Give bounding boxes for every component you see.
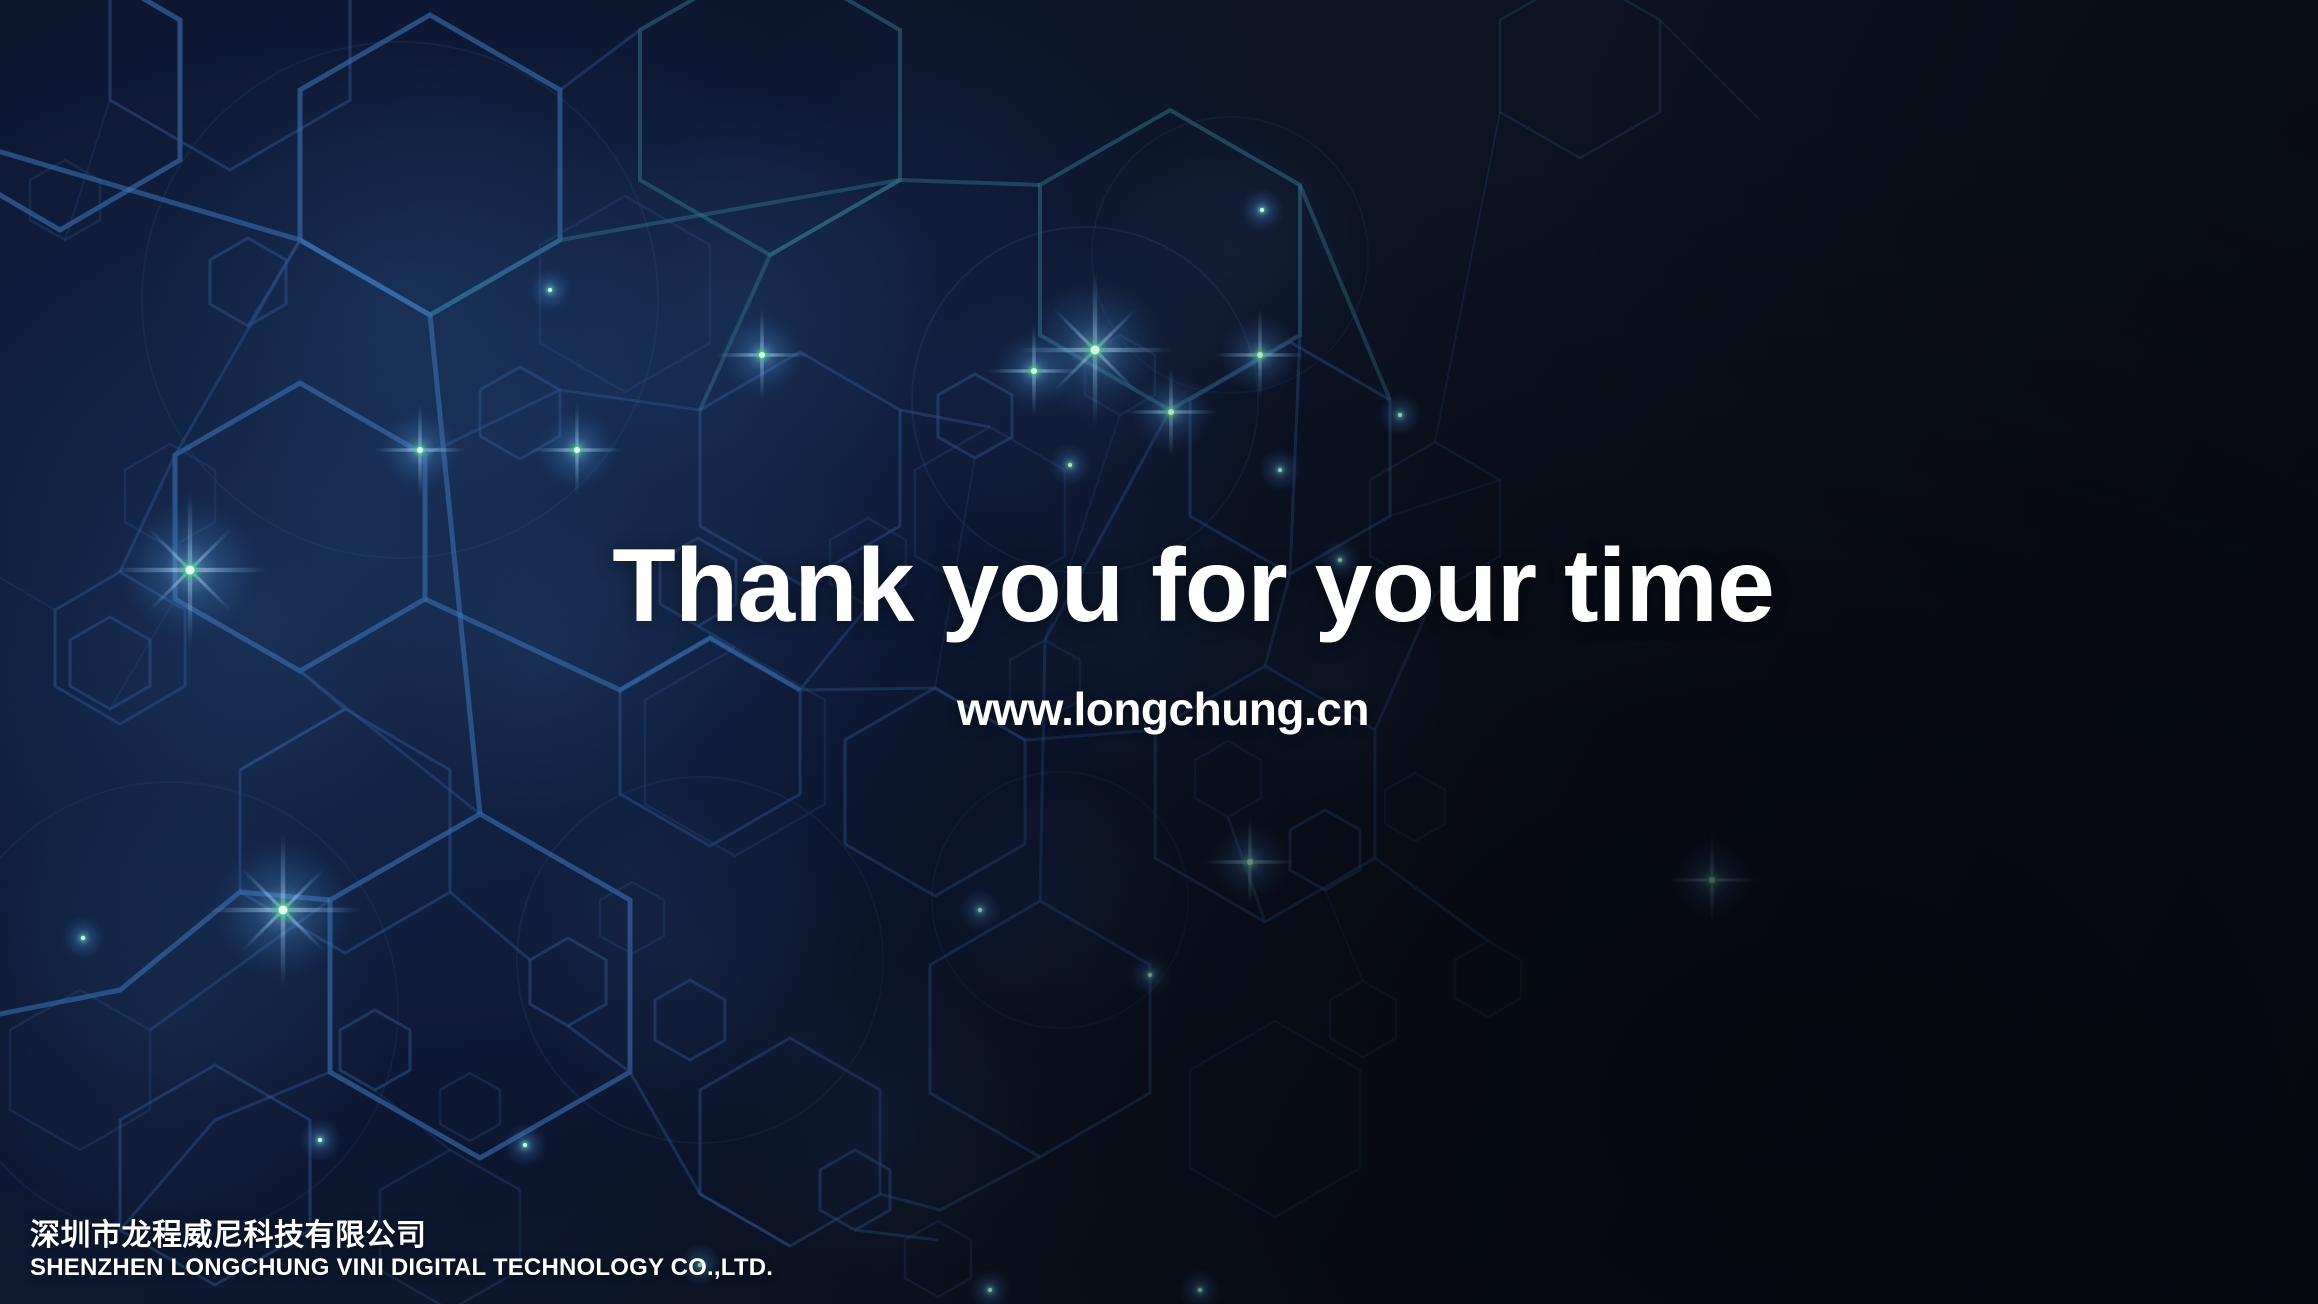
website-url: www.longchung.cn (0, 686, 2318, 732)
slide-content: Thank you for your time www.longchung.cn… (0, 0, 2318, 1304)
footer-company-block: 深圳市龙程威尼科技有限公司 SHENZHEN LONGCHUNG VINI DI… (30, 1219, 773, 1282)
company-name-chinese: 深圳市龙程威尼科技有限公司 (30, 1219, 773, 1253)
slide-title: Thank you for your time (0, 534, 2318, 638)
closing-slide: .hx { fill:none; stroke:#2d5490; stroke-… (0, 0, 2318, 1304)
company-name-english: SHENZHEN LONGCHUNG VINI DIGITAL TECHNOLO… (30, 1254, 773, 1282)
